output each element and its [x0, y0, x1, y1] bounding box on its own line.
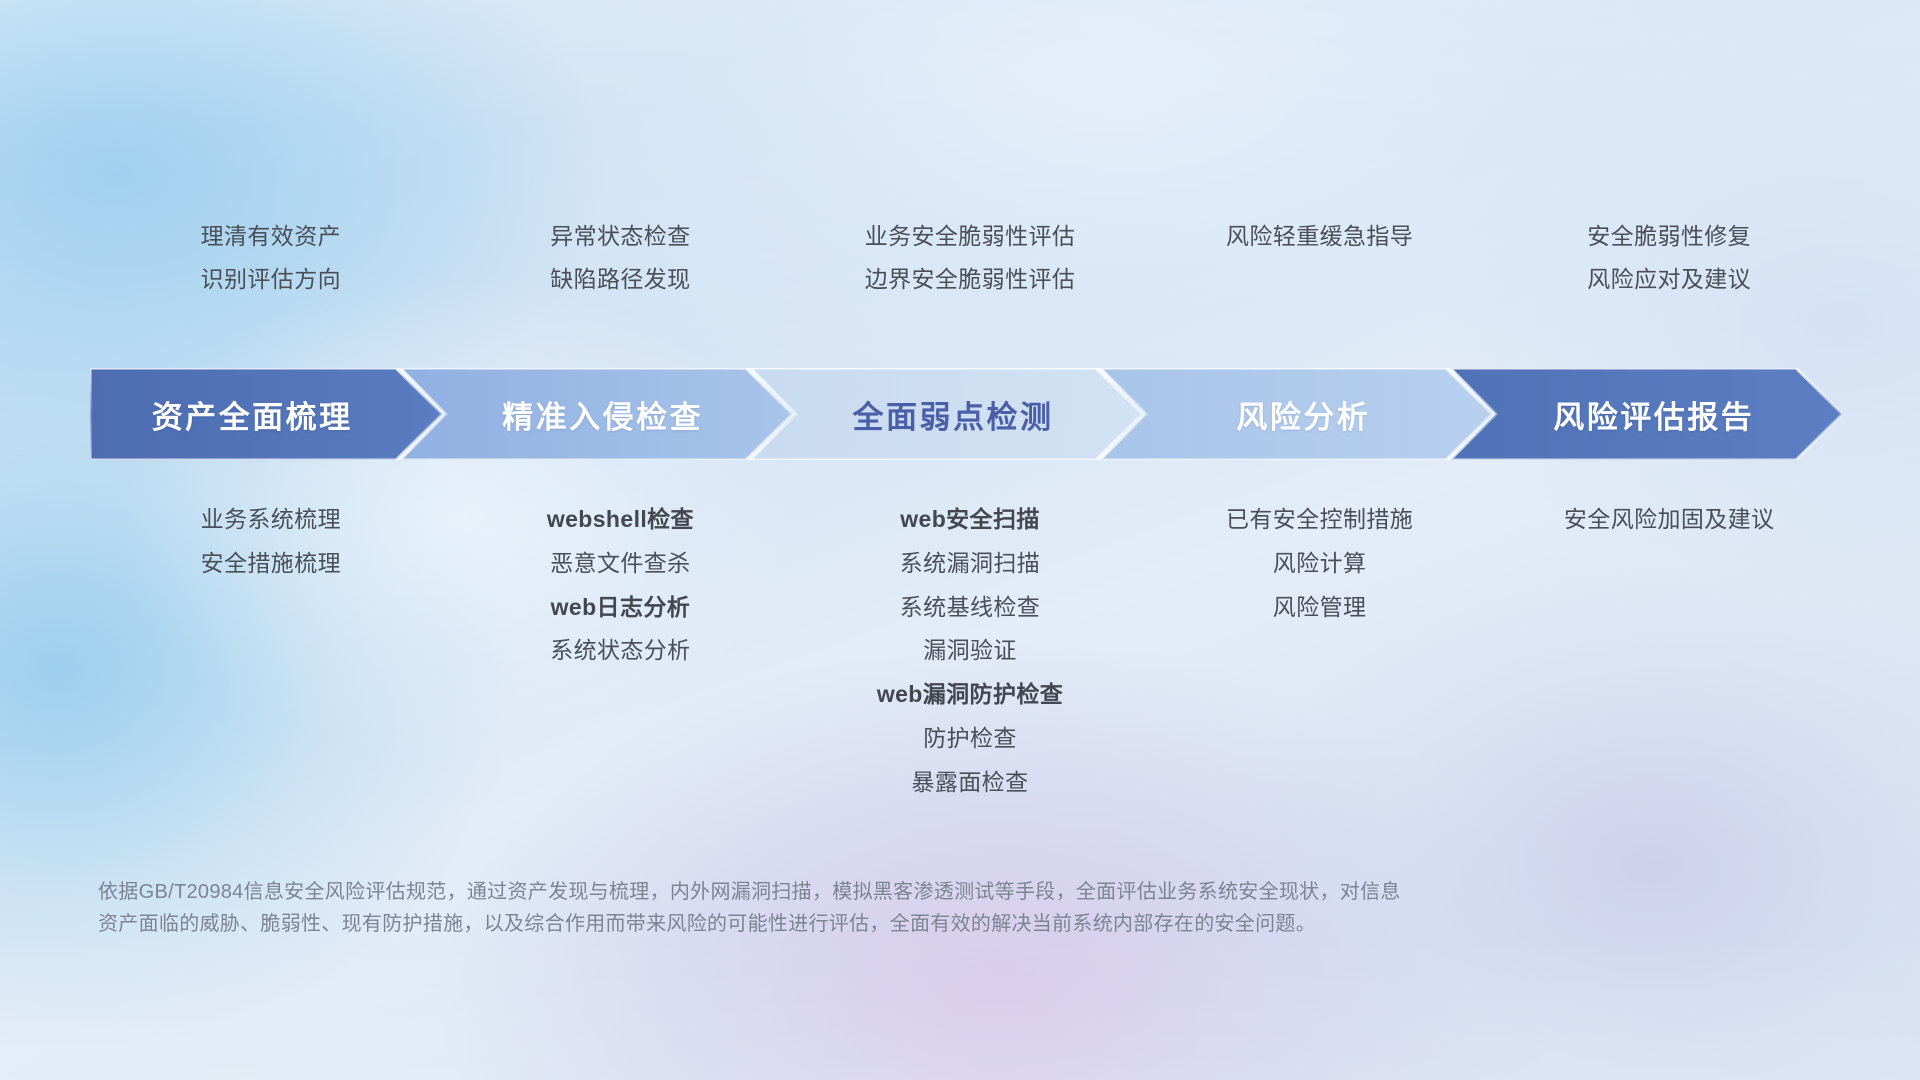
- bottom-items-stage-5: 安全风险加固及建议: [1494, 505, 1844, 796]
- list-item: 系统漏洞扫描: [900, 549, 1040, 578]
- list-item: 暴露面检查: [911, 768, 1028, 797]
- top-note: 风险应对及建议: [1587, 265, 1751, 294]
- stage-title-asset-inventory[interactable]: 资产全面梳理: [90, 368, 440, 460]
- footer-line-1: 依据GB/T20984信息安全风险评估规范，通过资产发现与梳理，内外网漏洞扫描，…: [98, 876, 1618, 908]
- list-item: webshell检查: [547, 505, 694, 534]
- bottom-items-stage-1: 业务系统梳理 安全措施梳理: [96, 505, 446, 796]
- top-note: 安全脆弱性修复: [1587, 222, 1751, 251]
- list-item: web日志分析: [551, 593, 691, 622]
- list-item: 已有安全控制措施: [1226, 505, 1413, 534]
- chevron-label-row: 资产全面梳理 精准入侵检查 全面弱点检测 风险分析 风险评估报告: [90, 368, 1842, 460]
- list-item: 安全风险加固及建议: [1564, 505, 1775, 534]
- top-note: 边界安全脆弱性评估: [865, 265, 1076, 294]
- list-item: 恶意文件查杀: [550, 549, 690, 578]
- top-notes-stage-3: 业务安全脆弱性评估 边界安全脆弱性评估: [795, 222, 1145, 294]
- top-note: 业务安全脆弱性评估: [865, 222, 1076, 251]
- bottom-items-row: 业务系统梳理 安全措施梳理 webshell检查 恶意文件查杀 web日志分析 …: [96, 505, 1844, 796]
- list-item: 防护检查: [923, 724, 1017, 753]
- slide-canvas: 理清有效资产 识别评估方向 异常状态检查 缺陷路径发现 业务安全脆弱性评估 边界…: [0, 0, 1920, 1080]
- bottom-items-stage-3: web安全扫描 系统漏洞扫描 系统基线检查 漏洞验证 web漏洞防护检查 防护检…: [795, 505, 1145, 796]
- list-item: 系统基线检查: [900, 593, 1040, 622]
- bottom-items-stage-4: 已有安全控制措施 风险计算 风险管理: [1145, 505, 1495, 796]
- bottom-items-stage-2: webshell检查 恶意文件查杀 web日志分析 系统状态分析: [446, 505, 796, 796]
- list-item: web漏洞防护检查: [877, 680, 1063, 709]
- list-item: 漏洞验证: [923, 636, 1017, 665]
- footer-description: 依据GB/T20984信息安全风险评估规范，通过资产发现与梳理，内外网漏洞扫描，…: [98, 876, 1618, 941]
- top-note: 异常状态检查: [550, 222, 690, 251]
- list-item: web安全扫描: [900, 505, 1040, 534]
- top-note: 理清有效资产: [201, 222, 341, 251]
- top-note: 缺陷路径发现: [550, 265, 690, 294]
- stage-title-risk-analysis[interactable]: 风险分析: [1141, 368, 1491, 460]
- footer-line-2: 资产面临的威胁、脆弱性、现有防护措施，以及综合作用而带来风险的可能性进行评估，全…: [98, 908, 1618, 940]
- top-notes-stage-1: 理清有效资产 识别评估方向: [96, 222, 446, 294]
- slide-content: 理清有效资产 识别评估方向 异常状态检查 缺陷路径发现 业务安全脆弱性评估 边界…: [0, 0, 1920, 1080]
- top-notes-stage-4: 风险轻重缓急指导: [1145, 222, 1495, 294]
- process-chevron-band: 资产全面梳理 精准入侵检查 全面弱点检测 风险分析 风险评估报告: [90, 368, 1842, 460]
- top-notes-stage-2: 异常状态检查 缺陷路径发现: [446, 222, 796, 294]
- top-notes-row: 理清有效资产 识别评估方向 异常状态检查 缺陷路径发现 业务安全脆弱性评估 边界…: [96, 222, 1844, 294]
- stage-title-weakness-detection[interactable]: 全面弱点检测: [791, 368, 1141, 460]
- top-note: 识别评估方向: [201, 265, 341, 294]
- list-item: 安全措施梳理: [201, 549, 341, 578]
- top-note: 风险轻重缓急指导: [1226, 222, 1413, 251]
- stage-title-risk-report[interactable]: 风险评估报告: [1492, 368, 1842, 460]
- list-item: 风险计算: [1273, 549, 1367, 578]
- list-item: 系统状态分析: [550, 636, 690, 665]
- list-item: 风险管理: [1273, 593, 1367, 622]
- list-item: 业务系统梳理: [201, 505, 341, 534]
- top-notes-stage-5: 安全脆弱性修复 风险应对及建议: [1494, 222, 1844, 294]
- stage-title-intrusion-check[interactable]: 精准入侵检查: [440, 368, 790, 460]
